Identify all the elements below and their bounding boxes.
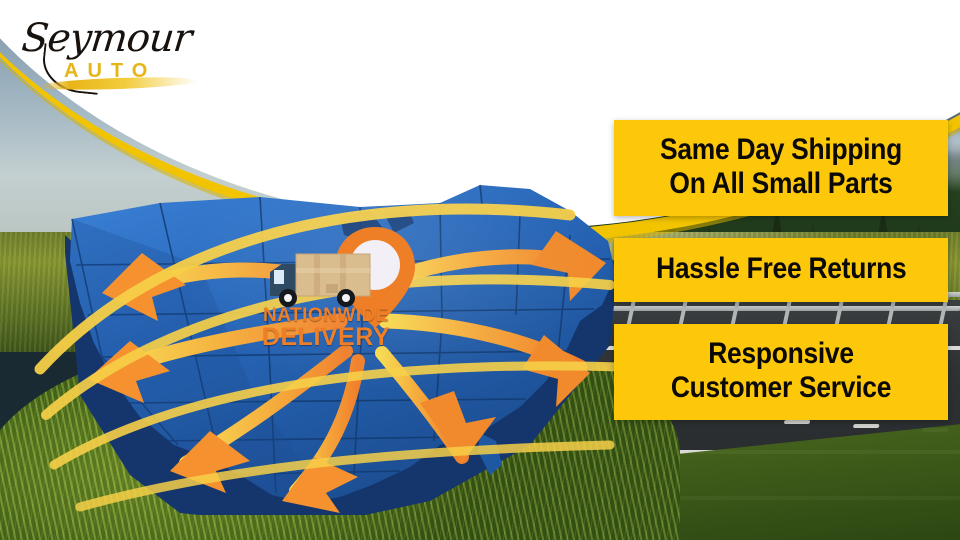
callout-responsive-customer-service[interactable]: Responsive Customer Service <box>614 324 948 420</box>
callout-line: Responsive <box>643 337 919 371</box>
callout-hassle-free-returns[interactable]: Hassle Free Returns <box>614 238 948 302</box>
brand-logo[interactable]: Seymour AUTO <box>18 16 203 98</box>
logo-sub-name: AUTO <box>64 60 156 83</box>
callout-line: Same Day Shipping <box>643 133 919 167</box>
callout-line: On All Small Parts <box>643 167 919 201</box>
callout-same-day-shipping[interactable]: Same Day Shipping On All Small Parts <box>614 120 948 216</box>
callout-line: Customer Service <box>643 371 919 405</box>
nationwide-delivery-label: NATIONWIDE DELIVERY <box>256 306 396 351</box>
delivery-truck-icon <box>268 248 378 310</box>
promo-banner: Seymour AUTO <box>0 0 960 540</box>
logo-script-name: Seymour <box>20 16 194 61</box>
callout-list: Same Day Shipping On All Small Parts Has… <box>614 120 948 420</box>
delivery-text: DELIVERY <box>256 325 396 351</box>
callout-line: Hassle Free Returns <box>656 252 906 286</box>
